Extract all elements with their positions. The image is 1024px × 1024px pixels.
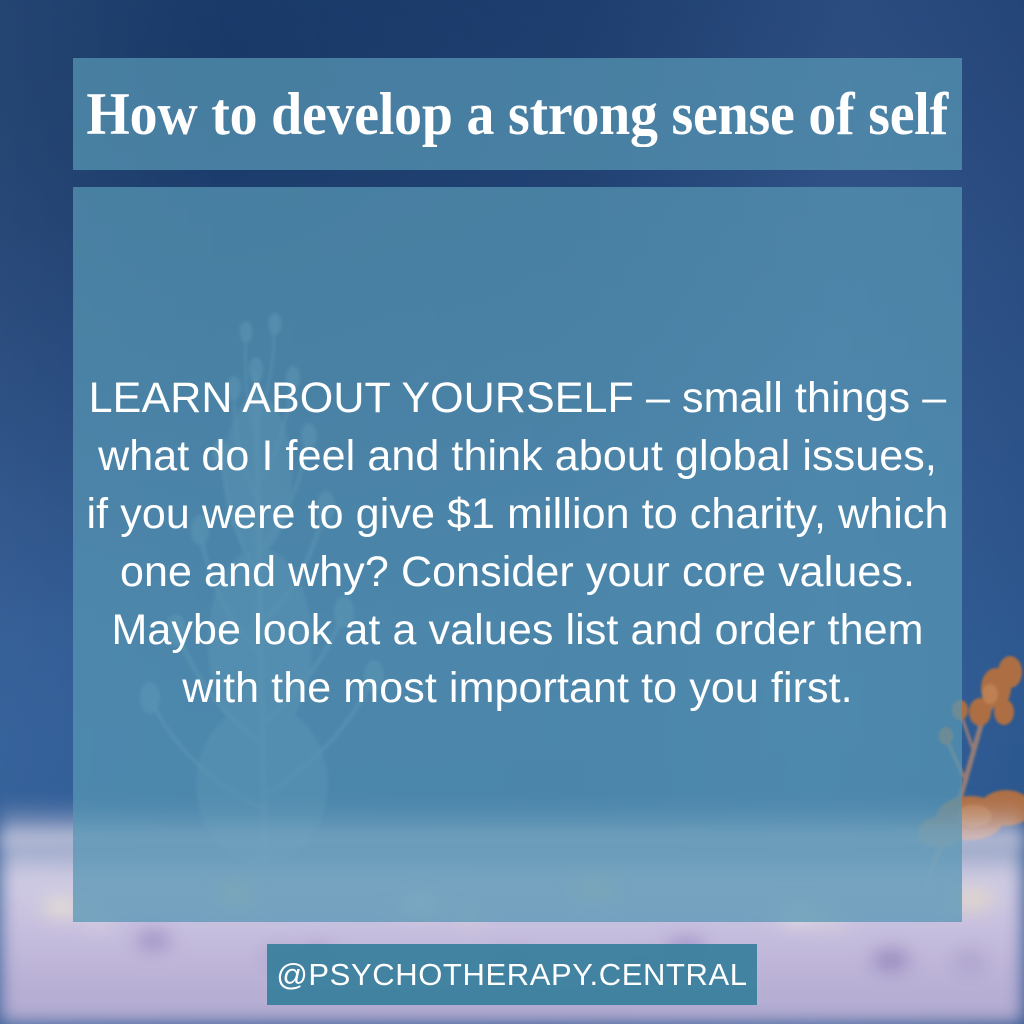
social-handle: @PSYCHOTHERAPY.CENTRAL	[276, 959, 747, 990]
body-panel: LEARN ABOUT YOURSELF – small things – wh…	[73, 187, 962, 922]
body-paragraph: LEARN ABOUT YOURSELF – small things – wh…	[79, 369, 957, 717]
title-banner: How to develop a strong sense of self	[73, 58, 962, 170]
page-title: How to develop a strong sense of self	[79, 84, 955, 144]
handle-badge: @PSYCHOTHERAPY.CENTRAL	[267, 944, 757, 1005]
quote-card-canvas: How to develop a strong sense of self LE…	[0, 0, 1024, 1024]
